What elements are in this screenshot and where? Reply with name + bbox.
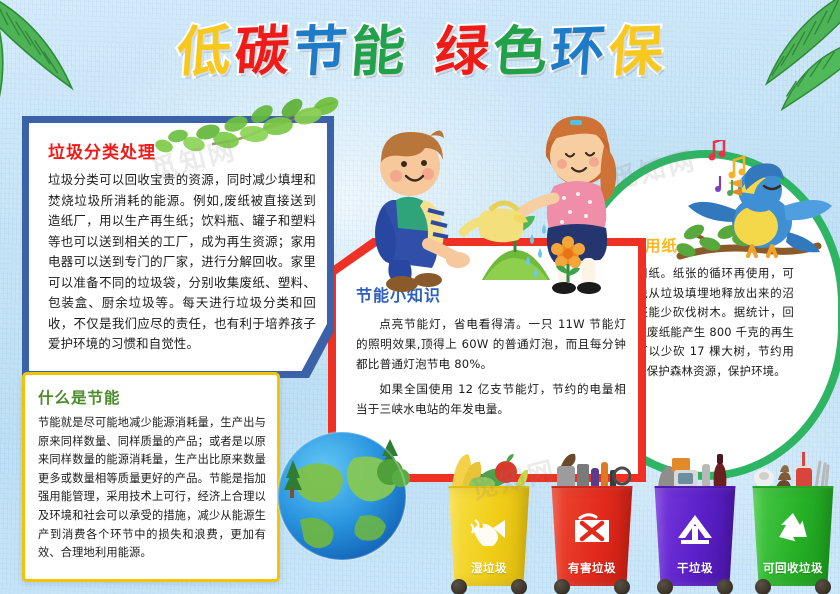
bin-recyclable-wheel-right <box>815 579 831 594</box>
what-is-saving-card: 什么是节能 节能就是尽可能地减少能源消耗量，生产出与原来同样数量、同样质量的产品… <box>22 372 280 582</box>
title-char-6: 色 <box>491 24 549 80</box>
saving-tips-paragraph-1: 点亮节能灯，省电看得清。一只 11W 节能灯的照明效果,顶得上 60W 的普通灯… <box>356 314 626 374</box>
bin-wet-body[interactable]: 湿垃圾 <box>446 486 532 586</box>
saving-tips-paragraph-2: 如果全国使用 12 亿支节能灯，节约的电量相当于三峡水电站的年发电量。 <box>356 379 626 419</box>
wet-trash-pile-icon <box>450 450 528 490</box>
what-is-saving-heading: 什么是节能 <box>38 386 266 408</box>
bin-dry-label: 干垃圾 <box>652 560 738 576</box>
saving-tips-heading: 节能小知识 <box>356 282 626 306</box>
bin-dry-wheel-left <box>657 579 673 594</box>
dry-waste-icon <box>675 512 715 546</box>
bin-hazardous[interactable]: 有害垃圾 <box>549 486 635 586</box>
bin-hazardous-label: 有害垃圾 <box>549 560 635 576</box>
hazard-cross-icon <box>572 512 612 546</box>
bin-wet[interactable]: 湿垃圾 <box>446 486 532 586</box>
bin-recyclable-label: 可回收垃圾 <box>750 560 836 576</box>
bin-recyclable[interactable]: 可回收垃圾 <box>750 486 836 586</box>
bin-hazardous-wheel-right <box>614 579 630 594</box>
bin-dry-wheel-right <box>717 579 733 594</box>
page-title: 低 碳 节 能 绿 色 环 保 <box>0 14 840 90</box>
title-char-3: 节 <box>291 24 349 80</box>
what-is-saving-body: 节能就是尽可能地减少能源消耗量，生产出与原来同样数量、同样质量的产品；或者是以原… <box>38 414 266 563</box>
poster-canvas: 低 碳 节 能 绿 色 环 保 节约用纸 节约用纸。纸张的循环再使用，可以避免从… <box>0 0 840 594</box>
hazardous-trash-pile-icon <box>553 450 631 490</box>
title-char-5: 绿 <box>433 24 491 80</box>
trash-sorting-card: 垃圾分类处理 垃圾分类可以回收宝贵的资源，同时减少填埋和焚烧垃圾所消耗的能源。例… <box>22 116 334 378</box>
trash-bins-group: 湿垃圾 有害垃圾 <box>446 430 840 594</box>
recyclable-trash-pile-icon <box>754 450 832 490</box>
bin-wet-wheel-right <box>511 579 527 594</box>
trash-sorting-heading: 垃圾分类处理 <box>48 138 316 163</box>
bin-hazardous-body[interactable]: 有害垃圾 <box>549 486 635 586</box>
bin-hazardous-wheel-left <box>554 579 570 594</box>
bin-dry[interactable]: 干垃圾 <box>652 486 738 586</box>
recycle-icon <box>773 512 813 546</box>
bin-recyclable-wheel-left <box>755 579 771 594</box>
trash-sorting-body: 垃圾分类可以回收宝贵的资源，同时减少填埋和焚烧垃圾所消耗的能源。例如,废纸被直接… <box>48 170 316 355</box>
title-char-2: 碳 <box>233 24 291 80</box>
title-char-1: 低 <box>175 24 233 80</box>
title-char-8: 保 <box>607 24 665 80</box>
title-char-7: 环 <box>549 24 607 80</box>
bin-wet-wheel-left <box>451 579 467 594</box>
title-char-4: 能 <box>349 24 407 80</box>
fish-bone-icon <box>469 512 509 546</box>
bin-recyclable-body[interactable]: 可回收垃圾 <box>750 486 836 586</box>
dry-trash-pile-icon <box>656 450 734 490</box>
bin-wet-label: 湿垃圾 <box>446 560 532 576</box>
bin-dry-body[interactable]: 干垃圾 <box>652 486 738 586</box>
